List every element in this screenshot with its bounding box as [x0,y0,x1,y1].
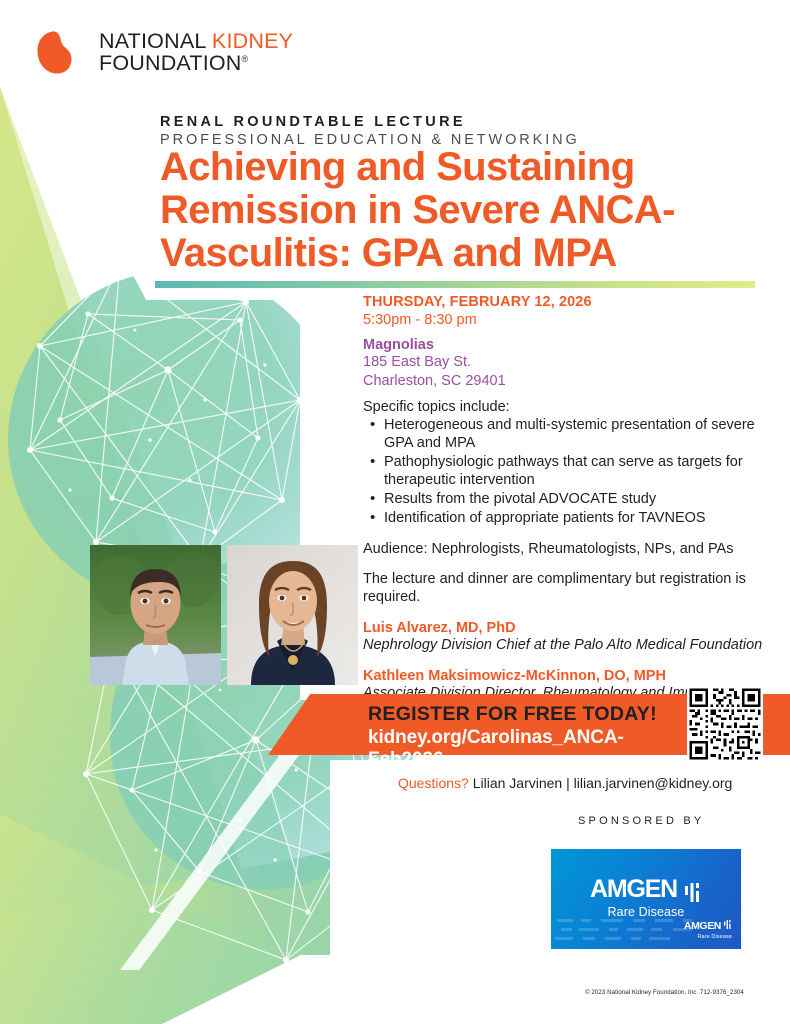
nkf-logo-text: NATIONAL KIDNEY FOUNDATION® [99,31,293,75]
list-item: Results from the pivotal ADVOCATE study [363,491,775,509]
flyer-page: NATIONAL KIDNEY FOUNDATION® RENAL ROUNDT… [0,0,790,1024]
list-item: Heterogeneous and multi-systemic present… [363,417,775,453]
amgen-secondary-lockup: AMGEN Rare Disease [684,916,732,940]
event-details-column: THURSDAY, FEBRUARY 12, 2026 5:30pm - 8:3… [363,294,775,739]
amgen-small-symbol-icon [724,920,732,932]
kidney-bean-icon [36,28,86,78]
event-address-line-2: Charleston, SC 29401 [363,372,775,391]
speaker-name: Luis Alvarez, MD, PhD [363,620,775,636]
speaker-entry: Luis Alvarez, MD, PhD Nephrology Divisio… [363,620,775,654]
avatar [227,545,358,685]
page-title: Achieving and Sustaining Remission in Se… [160,146,760,274]
event-date: THURSDAY, FEBRUARY 12, 2026 [363,294,775,310]
questions-lead: Questions? [398,775,469,791]
network-mesh-upper-icon [0,250,360,580]
register-text-block: REGISTER FOR FREE TODAY! kidney.org/Caro… [368,703,688,771]
speaker-title: Nephrology Division Chief at the Palo Al… [363,636,775,654]
questions-contact: Lilian Jarvinen | lilian.jarvinen@kidney… [469,775,733,791]
list-item: Pathophysiologic pathways that can serve… [363,454,775,490]
nkf-logo: NATIONAL KIDNEY FOUNDATION® [36,28,293,78]
kicker-block: RENAL ROUNDTABLE LECTURE PROFESSIONAL ED… [160,114,580,148]
event-venue: Magnolias [363,337,775,353]
amgen-wordmark: AMGEN [590,875,702,904]
complimentary-note: The lecture and dinner are complimentary… [363,570,775,606]
copyright-notice: © 2023 National Kidney Foundation, Inc. … [585,989,744,996]
logo-line-1: NATIONAL KIDNEY [99,31,293,53]
amgen-small-wordmark: AMGEN [684,920,732,932]
kicker-line-1: RENAL ROUNDTABLE LECTURE [160,114,580,130]
sponsored-by-label: SPONSORED BY [578,815,704,827]
avatar [90,545,221,685]
audience-line: Audience: Nephrologists, Rheumatologists… [363,541,775,557]
topics-list: Heterogeneous and multi-systemic present… [363,417,775,528]
register-cta: REGISTER FOR FREE TODAY! [368,703,688,726]
amgen-primary-lockup: AMGEN Rare Disease [551,875,741,919]
logo-foundation-text: FOUNDATION [99,51,242,75]
register-url-link[interactable]: kidney.org/Carolinas_ANCA-Feb2026 [368,727,688,771]
amgen-symbol-icon [685,880,702,899]
amgen-small-name: AMGEN [684,920,721,932]
amgen-sponsor-logo: AMGEN Rare Disease AMGEN [551,849,741,949]
logo-national-text: NATIONAL [99,29,212,53]
questions-line: Questions? Lilian Jarvinen | lilian.jarv… [398,775,732,791]
speaker-name: Kathleen Maksimowicz-McKinnon, DO, MPH [363,668,775,684]
logo-kidney-text: KIDNEY [212,29,293,53]
registered-mark-icon: ® [242,54,249,64]
event-time: 5:30pm - 8:30 pm [363,312,775,328]
background-lower-band-secondary [0,724,430,1024]
list-item: Identification of appropriate patients f… [363,510,775,528]
event-address-line-1: 185 East Bay St. [363,353,775,372]
logo-line-2: FOUNDATION® [99,53,293,75]
topics-lead: Specific topics include: [363,399,775,415]
amgen-small-tagline: Rare Disease [684,934,732,940]
qr-code-icon[interactable] [687,686,763,762]
amgen-name: AMGEN [590,875,677,904]
title-divider [155,281,755,288]
